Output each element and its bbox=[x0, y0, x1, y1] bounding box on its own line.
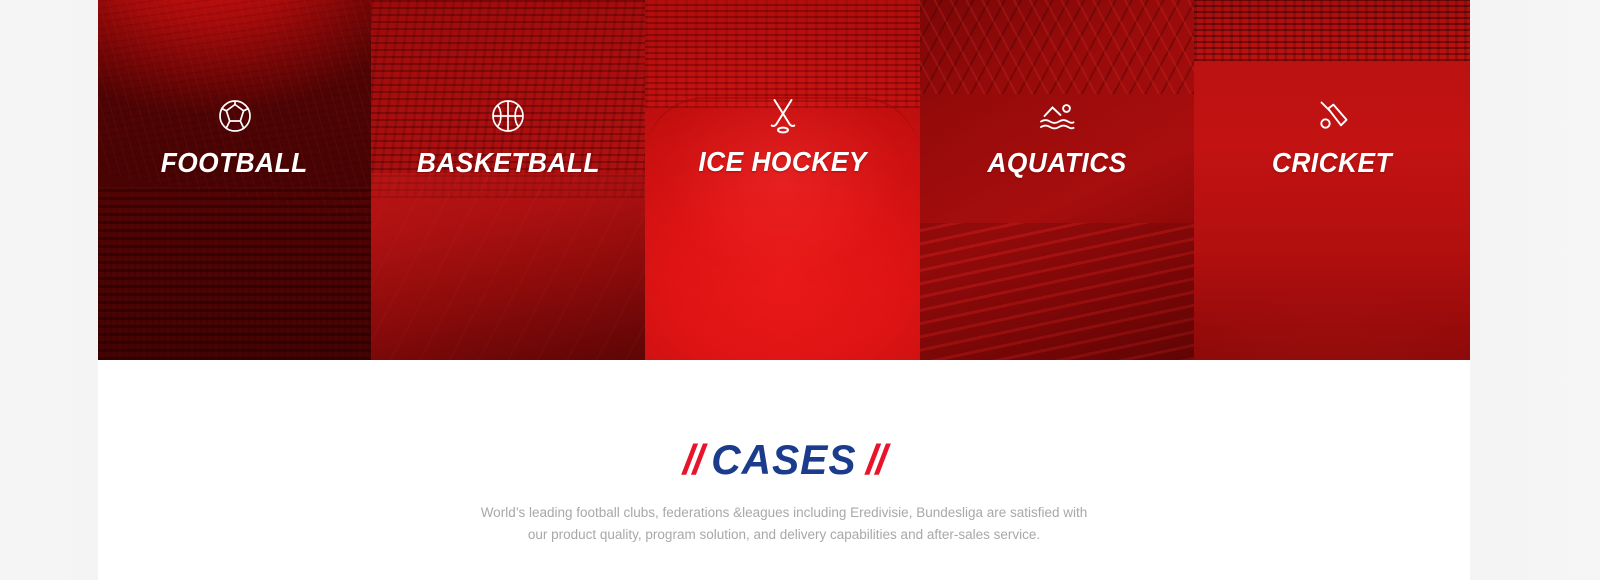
sport-tile-label: ICE HOCKEY bbox=[698, 148, 866, 176]
sport-tile-label: BASKETBALL bbox=[416, 149, 599, 177]
sport-tile-football[interactable]: FOOTBALL bbox=[98, 0, 371, 360]
cases-section: // CASES // World’s leading football clu… bbox=[98, 360, 1470, 580]
basketball-tile-content: BASKETBALL bbox=[371, 0, 645, 177]
football-tile-content: FOOTBALL bbox=[98, 0, 371, 177]
page-title: CASES bbox=[711, 439, 856, 481]
hockey-sticks-puck-icon bbox=[761, 93, 805, 137]
sport-tile-basketball[interactable]: BASKETBALL bbox=[371, 0, 645, 360]
cricket-bat-ball-icon bbox=[1310, 94, 1354, 138]
ice-hockey-tile-content: ICE HOCKEY bbox=[645, 0, 920, 176]
site-content-column: FOOTBALL bbox=[98, 0, 1470, 580]
soccer-ball-icon bbox=[213, 94, 257, 138]
sport-tile-aquatics[interactable]: AQUATICS bbox=[920, 0, 1194, 360]
cricket-tile-content: CRICKET bbox=[1194, 0, 1470, 177]
sport-tile-cricket[interactable]: CRICKET bbox=[1194, 0, 1470, 360]
cases-slash-right: // bbox=[866, 439, 885, 481]
cases-slash-left: // bbox=[683, 439, 702, 481]
basketball-icon bbox=[486, 94, 530, 138]
cases-description: World’s leading football clubs, federati… bbox=[474, 502, 1094, 546]
cases-heading: // CASES // bbox=[98, 439, 1470, 481]
swimmer-icon bbox=[1035, 94, 1079, 138]
sports-category-strip: FOOTBALL bbox=[98, 0, 1470, 360]
sport-tile-label: CRICKET bbox=[1272, 149, 1392, 177]
page-root: FOOTBALL bbox=[0, 0, 1600, 580]
sport-tile-ice-hockey[interactable]: ICE HOCKEY bbox=[645, 0, 920, 360]
sport-tile-label: AQUATICS bbox=[987, 149, 1126, 177]
sport-tile-label: FOOTBALL bbox=[161, 149, 308, 177]
aquatics-tile-content: AQUATICS bbox=[920, 0, 1194, 177]
